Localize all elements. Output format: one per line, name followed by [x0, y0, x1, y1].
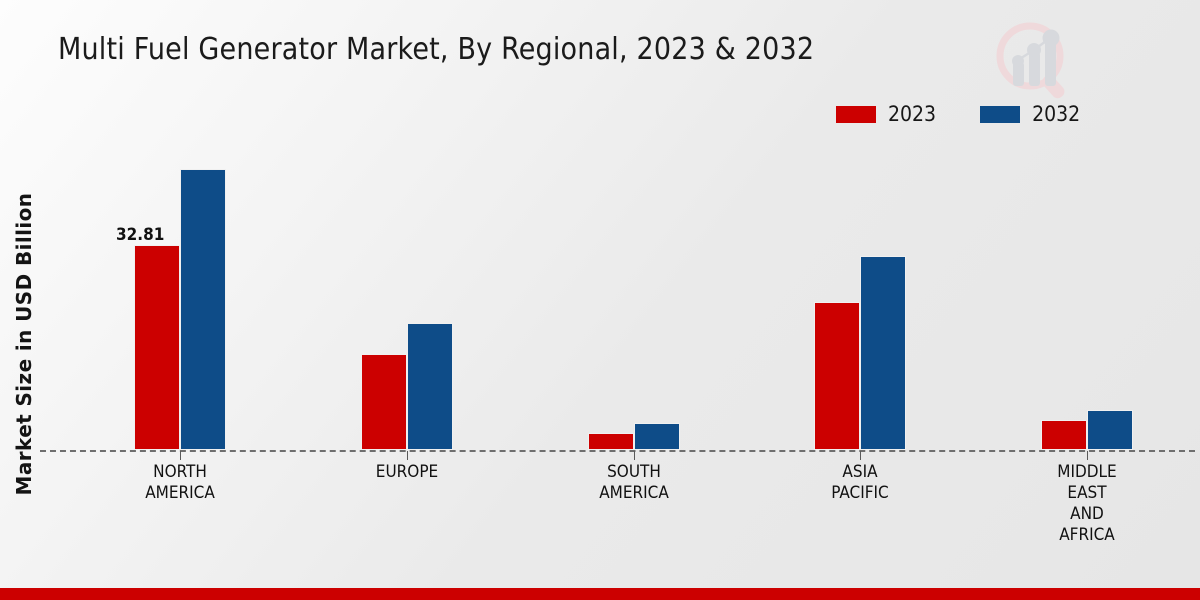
legend-label-2023: 2023: [888, 104, 936, 125]
bar-2023-middle-east-and-africa[interactable]: [1041, 420, 1087, 450]
bar-group: [337, 150, 477, 450]
bar-2023-europe[interactable]: [361, 354, 407, 450]
bar-2032-europe[interactable]: [407, 323, 453, 451]
bar-2032-middle-east-and-africa[interactable]: [1087, 410, 1133, 450]
legend-item-2023[interactable]: 2023: [836, 104, 936, 125]
bar-2032-asia-pacific[interactable]: [860, 256, 906, 450]
bar-data-label: 32.81: [116, 225, 164, 245]
bar-group: [1017, 150, 1157, 450]
x-axis-label-north-america: NORTHAMERICA: [80, 462, 280, 504]
bar-group: [110, 150, 250, 450]
bar-2032-south-america[interactable]: [634, 423, 680, 450]
legend-label-2032: 2032: [1032, 104, 1080, 125]
x-axis-tick: [860, 451, 861, 460]
magnifier-bar-chart-logo-icon: [985, 12, 1081, 108]
x-axis-baseline: [40, 450, 1195, 452]
legend-swatch-2032: [980, 106, 1020, 123]
bar-2023-south-america[interactable]: [588, 433, 634, 451]
x-axis-tick: [1087, 451, 1088, 460]
chart-canvas: Multi Fuel Generator Market, By Regional…: [0, 0, 1200, 600]
x-axis-label-europe: EUROPE: [307, 462, 507, 483]
x-axis-label-south-america: SOUTHAMERICA: [534, 462, 734, 504]
bar-2023-asia-pacific[interactable]: [814, 302, 860, 450]
x-axis-label-asia-pacific: ASIAPACIFIC: [760, 462, 960, 504]
chart-legend: 2023 2032: [836, 104, 1080, 125]
chart-title: Multi Fuel Generator Market, By Regional…: [58, 32, 814, 67]
footer-accent-bar: [0, 588, 1200, 600]
x-axis-tick: [634, 451, 635, 460]
legend-item-2032[interactable]: 2032: [980, 104, 1080, 125]
bar-group: [564, 150, 704, 450]
plot-area: 32.81: [40, 150, 1195, 452]
x-axis-label-middle-east-and-africa: MIDDLEEASTANDAFRICA: [987, 462, 1187, 546]
legend-swatch-2023: [836, 106, 876, 123]
bar-2023-north-america[interactable]: [134, 245, 180, 450]
x-axis-tick: [407, 451, 408, 460]
x-axis-tick: [180, 451, 181, 460]
bar-2032-north-america[interactable]: [180, 169, 226, 450]
y-axis-title: Market Size in USD Billion: [12, 174, 36, 514]
bar-group: [790, 150, 930, 450]
